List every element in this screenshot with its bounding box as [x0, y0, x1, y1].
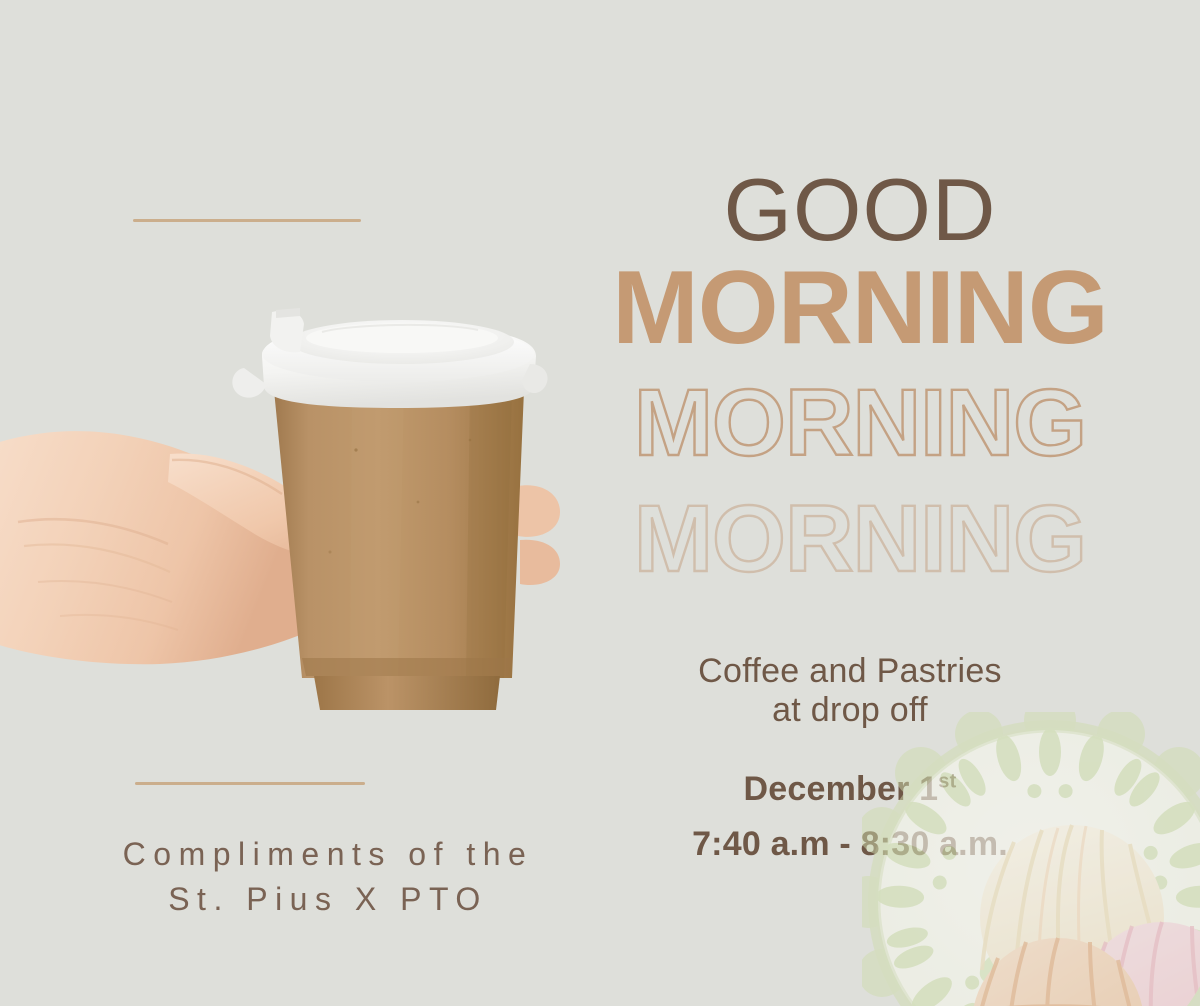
headline-morning-solid: MORNING — [560, 256, 1160, 360]
event-subhead: Coffee and Pastries at drop off — [620, 652, 1080, 730]
event-date: December 1st — [620, 770, 1080, 809]
headline-morning-outline-1: MORNING — [560, 374, 1160, 474]
hand-holding-coffee-cup-photo — [0, 290, 560, 710]
event-date-text: December 1 — [744, 770, 939, 808]
headline-morning-outline-2: MORNING — [560, 490, 1160, 590]
headline-stack: GOOD MORNING MORNING MORNING — [560, 168, 1160, 590]
concha-pink — [1078, 922, 1200, 1006]
concha-peach — [970, 938, 1144, 1006]
event-time-range: 7:40 a.m - 8:30 a.m. — [620, 825, 1080, 864]
event-date-ordinal: st — [938, 770, 956, 792]
headline-good: GOOD — [560, 168, 1160, 252]
sponsor-credit: Compliments of the St. Pius X PTO — [18, 832, 638, 923]
top-divider-rule — [133, 219, 361, 222]
poster-canvas: GOOD MORNING MORNING MORNING Coffee and … — [0, 0, 1200, 1006]
event-details: Coffee and Pastries at drop off December… — [620, 652, 1080, 864]
bottom-divider-rule — [135, 782, 365, 785]
